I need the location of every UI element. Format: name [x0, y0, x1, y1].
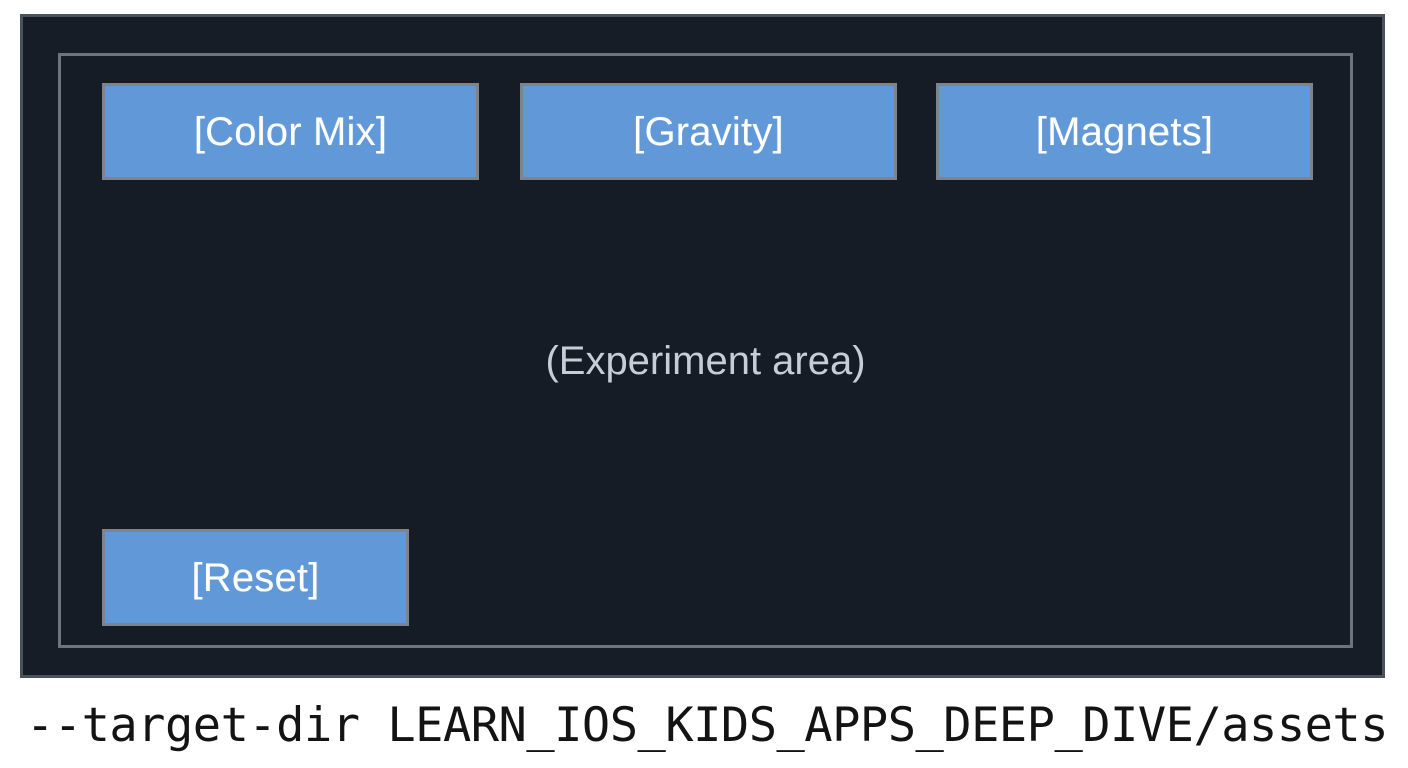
experiment-area-placeholder: (Experiment area): [61, 341, 1350, 381]
experiment-panel: [Color Mix] [Gravity] [Magnets] (Experim…: [58, 53, 1353, 648]
cli-command-caption: --target-dir LEARN_IOS_KIDS_APPS_DEEP_DI…: [26, 700, 1388, 752]
app-window: [Color Mix] [Gravity] [Magnets] (Experim…: [20, 14, 1385, 678]
page-root: [Color Mix] [Gravity] [Magnets] (Experim…: [0, 0, 1408, 768]
mode-button-gravity[interactable]: [Gravity]: [520, 83, 897, 180]
mode-button-color-mix[interactable]: [Color Mix]: [102, 83, 479, 180]
reset-button[interactable]: [Reset]: [102, 529, 409, 626]
mode-button-magnets[interactable]: [Magnets]: [936, 83, 1313, 180]
